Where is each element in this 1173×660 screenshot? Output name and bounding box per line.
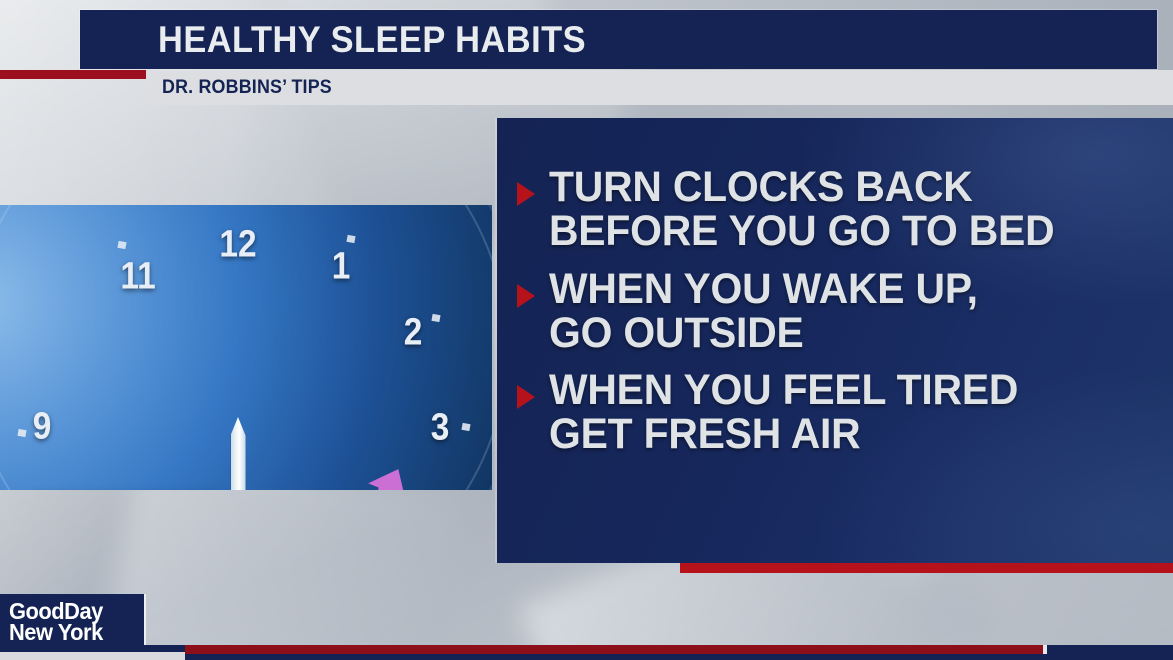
clock-tick-dot — [346, 235, 355, 243]
clock-tick-dot — [17, 429, 26, 437]
clock-numeral-2: 2 — [402, 312, 423, 355]
footer-tick-marker — [1043, 645, 1047, 654]
clock-numeral-9: 9 — [31, 406, 52, 449]
footer-red-bar — [185, 645, 1043, 654]
panel-red-accent — [680, 563, 1173, 573]
clock-numeral-12: 12 — [217, 224, 259, 267]
bullet-triangle-icon — [517, 182, 535, 206]
clock-tick-dot — [431, 314, 440, 322]
clock-numeral-11: 11 — [118, 256, 158, 299]
bullet-triangle-icon — [517, 284, 535, 308]
channel-logo: GoodDay New York — [0, 594, 144, 645]
header-title-band: HEALTHY SLEEP HABITS — [80, 10, 1157, 69]
clock-numeral-3: 3 — [429, 407, 450, 450]
clock-tick-dot — [117, 241, 126, 249]
tip-item-text: TURN CLOCKS BACK BEFORE YOU GO TO BED — [549, 166, 1081, 254]
tip-item: WHEN YOU FEEL TIRED GET FRESH AIR — [517, 369, 1161, 457]
logo-line-2: New York — [9, 619, 108, 646]
footer-left-light — [0, 652, 185, 660]
logo-line-2-text: New York — [9, 619, 103, 646]
page-subtitle: DR. ROBBINS’ TIPS — [162, 77, 343, 99]
page-title-text: HEALTHY SLEEP HABITS — [158, 19, 586, 61]
tips-panel: TURN CLOCKS BACK BEFORE YOU GO TO BEDWHE… — [497, 118, 1173, 563]
tip-item-text: WHEN YOU FEEL TIRED GET FRESH AIR — [549, 369, 1043, 457]
broadcast-graphic: HEALTHY SLEEP HABITS DR. ROBBINS’ TIPS 1… — [0, 0, 1173, 660]
page-subtitle-text: DR. ROBBINS’ TIPS — [162, 77, 332, 99]
bullet-triangle-icon — [517, 385, 535, 409]
clock-numeral-1: 1 — [330, 246, 351, 289]
tip-item-text: WHEN YOU WAKE UP, GO OUTSIDE — [549, 268, 1000, 356]
header-subtitle-band: DR. ROBBINS’ TIPS — [146, 70, 1173, 105]
clock-tick-dot — [461, 423, 470, 431]
header-red-accent — [0, 70, 146, 79]
tip-item: WHEN YOU WAKE UP, GO OUTSIDE — [517, 268, 1161, 356]
page-title: HEALTHY SLEEP HABITS — [158, 19, 618, 61]
tip-item: TURN CLOCKS BACK BEFORE YOU GO TO BED — [517, 166, 1161, 254]
tips-list: TURN CLOCKS BACK BEFORE YOU GO TO BEDWHE… — [517, 166, 1161, 471]
fall-back-clock-image: 12119123 FALL BACK — [0, 205, 492, 490]
